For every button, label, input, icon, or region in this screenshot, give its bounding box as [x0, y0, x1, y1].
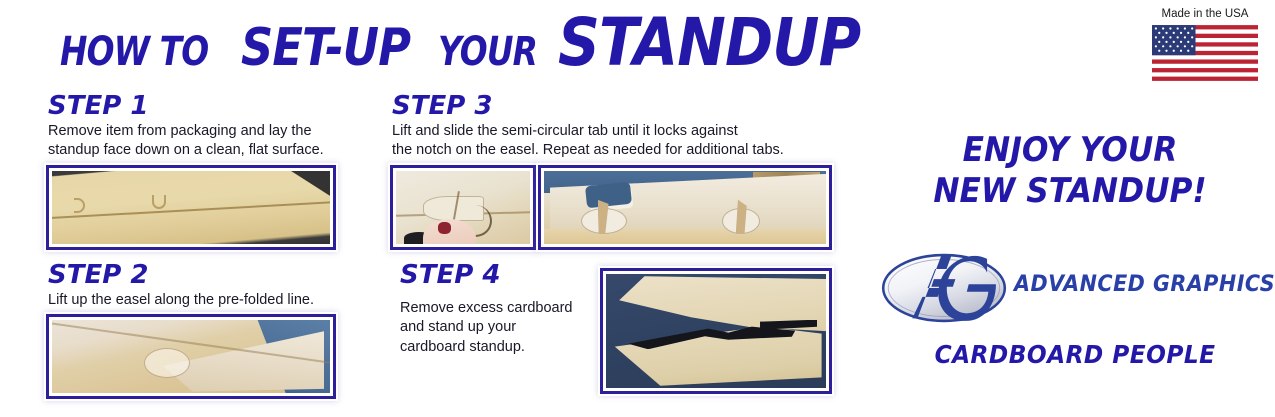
page-title-part-2: SET-UP: [241, 22, 410, 74]
step-4-body: Remove excess cardboard and stand up you…: [400, 299, 600, 357]
step-4-photo: [600, 268, 832, 394]
promo-line-1: ENJOY YOUR: [895, 130, 1245, 171]
step-2-title: STEP 2: [48, 262, 148, 288]
step-1-title: STEP 1: [48, 93, 148, 119]
brand-row: ADVANCED GRAPHICS: [880, 250, 1270, 328]
step-3-photo-left: [390, 165, 536, 250]
instruction-sheet: HOW TO SET-UP YOUR STANDUP Made in the U…: [0, 0, 1275, 417]
made-in-usa-badge: Made in the USA: [1152, 8, 1258, 81]
company-name: ADVANCED GRAPHICS: [1014, 272, 1275, 297]
step-3-body: Lift and slide the semi-circular tab unt…: [392, 122, 832, 161]
step-3-photo-right: [538, 165, 832, 250]
page-title: HOW TO SET-UP YOUR STANDUP: [60, 10, 902, 76]
step-2-photo: [46, 314, 336, 399]
promo-headline: ENJOY YOUR NEW STANDUP!: [880, 130, 1260, 213]
page-title-part-1: HOW TO: [60, 32, 208, 72]
step-4-title: STEP 4: [400, 262, 500, 288]
step-1-photo: [46, 165, 336, 250]
promo-line-2: NEW STANDUP!: [895, 171, 1245, 212]
usa-flag-icon: [1152, 25, 1258, 81]
step-3-title: STEP 3: [392, 93, 492, 119]
made-in-usa-label: Made in the USA: [1152, 8, 1258, 22]
ag-oval-logo-icon: [880, 250, 1008, 326]
step-1-body: Remove item from packaging and lay the s…: [48, 122, 368, 161]
page-title-part-3: YOUR: [438, 32, 537, 72]
brand-tagline-text: CARDBOARD PEOPLE: [935, 340, 1216, 369]
brand-tagline: CARDBOARD PEOPLE: [880, 340, 1270, 369]
page-title-part-4: STANDUP: [558, 10, 860, 76]
step-2-body: Lift up the easel along the pre-folded l…: [48, 291, 368, 310]
